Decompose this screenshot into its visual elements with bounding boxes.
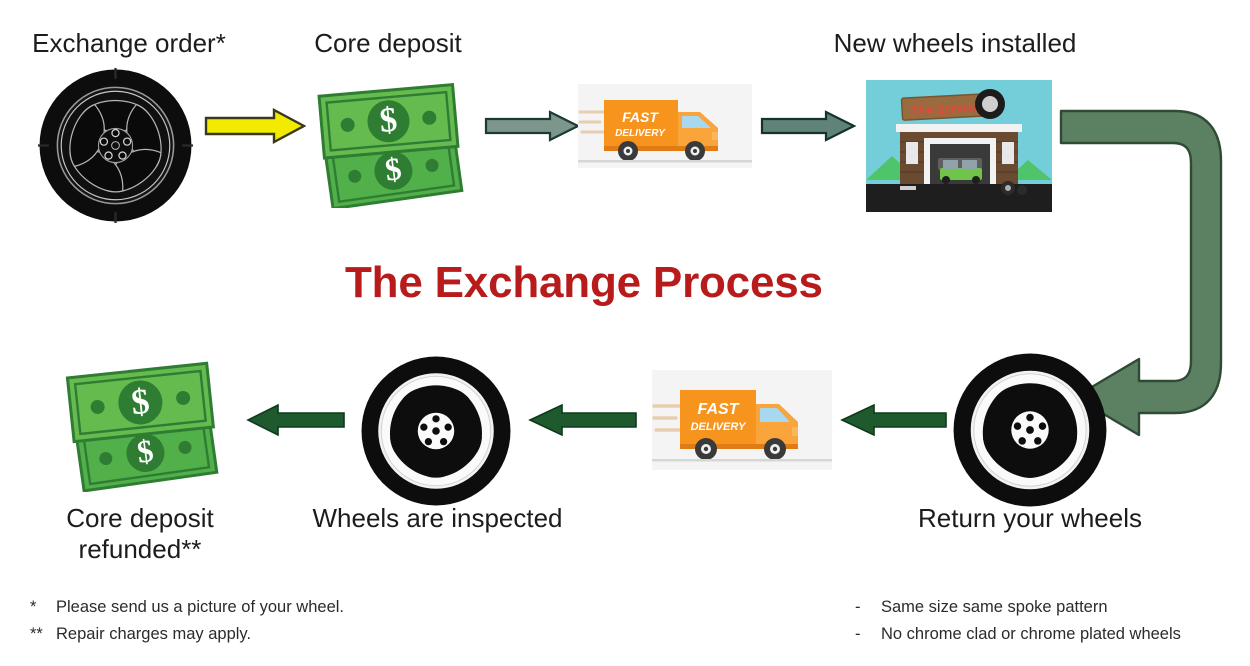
footnote-left-2-text: Repair charges may apply. [56, 625, 251, 643]
truck-text-line1: FAST [622, 109, 659, 125]
footnotes-left: *Please send us a picture of your wheel.… [30, 594, 344, 648]
arrow-truck-to-shop [760, 110, 856, 142]
delivery-truck-icon-bottom: FAST DELIVERY [652, 370, 832, 470]
label-core-deposit-refunded-line2: refunded** [79, 534, 202, 564]
arrow-order-to-deposit [204, 108, 306, 144]
tire-service-shop-icon: Tire Service [866, 80, 1052, 212]
svg-text:FAST: FAST [698, 401, 740, 418]
arrow-truck-to-inspect [528, 403, 638, 437]
footnote-right-2-text: No chrome clad or chrome plated wheels [881, 625, 1181, 643]
label-return-your-wheels: Return your wheels [895, 503, 1165, 534]
label-core-deposit: Core deposit [288, 28, 488, 59]
wheel-dark-icon [38, 68, 193, 223]
page-title: The Exchange Process [345, 258, 823, 308]
arrow-return-to-truck [840, 403, 948, 437]
arrow-inspect-to-refund [246, 403, 346, 437]
money-icon-top: $ $ [306, 72, 478, 208]
footnote-left-1-text: Please send us a picture of your wheel. [56, 598, 344, 616]
footnote-left-1-marker: * [30, 594, 56, 621]
label-new-wheels-installed: New wheels installed [800, 28, 1110, 59]
footnote-right-1: -Same size same spoke pattern [855, 594, 1181, 621]
truck-text-line2: DELIVERY [615, 128, 666, 139]
label-exchange-order: Exchange order* [0, 28, 258, 59]
footnote-left-2-marker: ** [30, 621, 56, 648]
footnotes-right: -Same size same spoke pattern -No chrome… [855, 594, 1181, 648]
footnote-right-2: -No chrome clad or chrome plated wheels [855, 621, 1181, 648]
svg-text:$: $ [378, 100, 399, 140]
footnote-left-2: **Repair charges may apply. [30, 621, 344, 648]
money-icon-bottom: $ $ [55, 352, 235, 492]
label-core-deposit-refunded: Core deposit refunded** [30, 503, 250, 564]
label-wheels-are-inspected: Wheels are inspected [300, 503, 575, 534]
delivery-truck-icon-top: FAST DELIVERY [578, 84, 752, 168]
footnote-right-2-marker: - [855, 621, 881, 648]
svg-text:DELIVERY: DELIVERY [691, 421, 747, 433]
wheel-light-icon-return [952, 352, 1108, 508]
exchange-process-diagram: Exchange order* Core deposit New wheels … [0, 0, 1250, 666]
footnote-right-1-text: Same size same spoke pattern [881, 598, 1108, 616]
footnote-left-1: *Please send us a picture of your wheel. [30, 594, 344, 621]
footnote-right-1-marker: - [855, 594, 881, 621]
arrow-deposit-to-truck [484, 110, 580, 142]
label-core-deposit-refunded-line1: Core deposit [66, 503, 213, 533]
wheel-light-icon-inspected [360, 355, 512, 507]
